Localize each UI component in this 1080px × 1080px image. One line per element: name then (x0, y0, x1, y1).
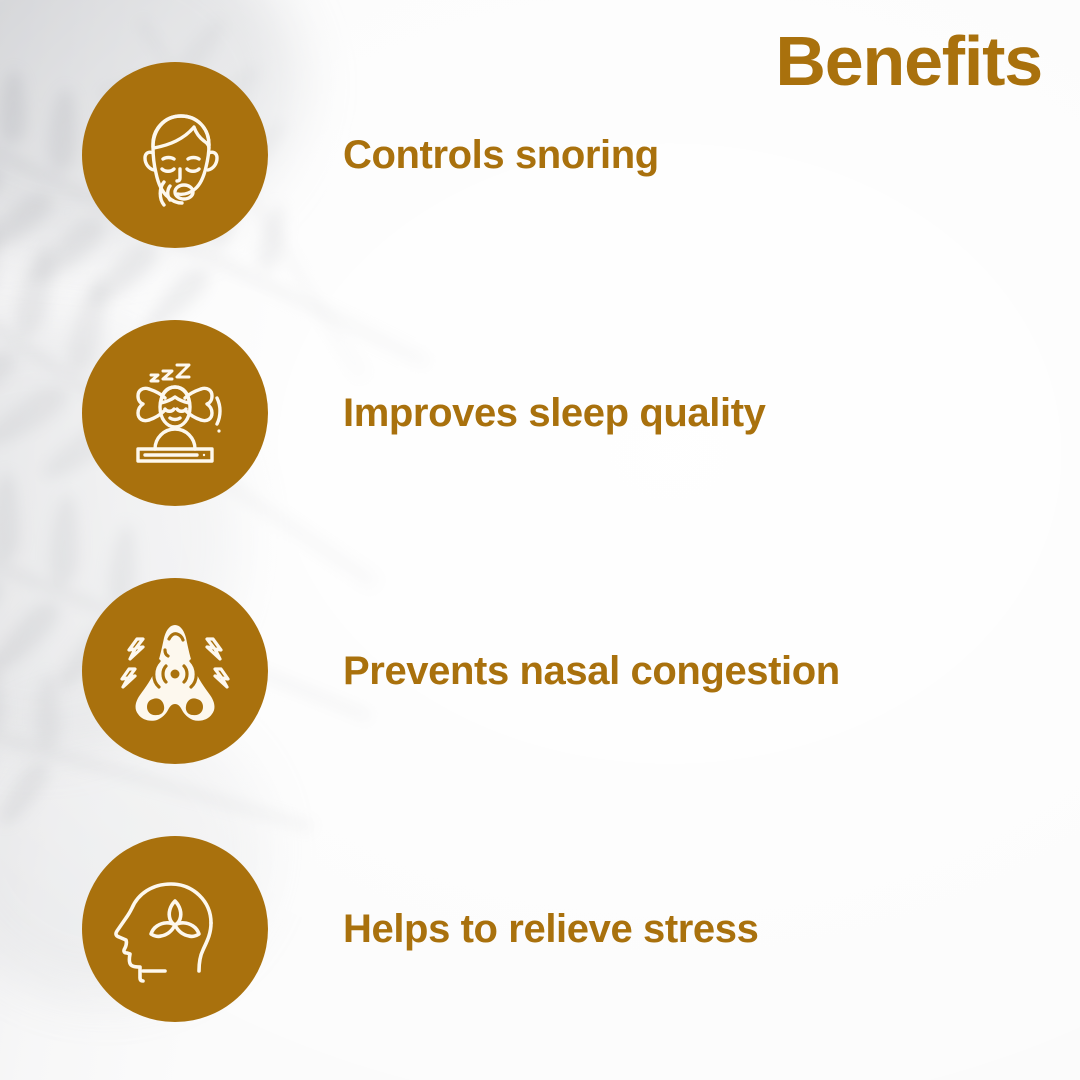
list-item-label: Controls snoring (343, 133, 659, 178)
benefits-list: Controls snoring (0, 0, 1080, 1080)
list-item: Prevents nasal congestion (82, 578, 1042, 764)
list-item-label: Helps to relieve stress (343, 907, 758, 952)
benefits-page: Benefits (0, 0, 1080, 1080)
nasal-congestion-icon (82, 578, 268, 764)
list-item: Improves sleep quality (82, 320, 1042, 506)
sleeping-in-bed-icon (82, 320, 268, 506)
snoring-face-icon (82, 62, 268, 248)
list-item-label: Prevents nasal congestion (343, 649, 840, 694)
list-item: Controls snoring (82, 62, 1042, 248)
head-lotus-relax-icon (82, 836, 268, 1022)
list-item: Helps to relieve stress (82, 836, 1042, 1022)
list-item-label: Improves sleep quality (343, 391, 765, 436)
